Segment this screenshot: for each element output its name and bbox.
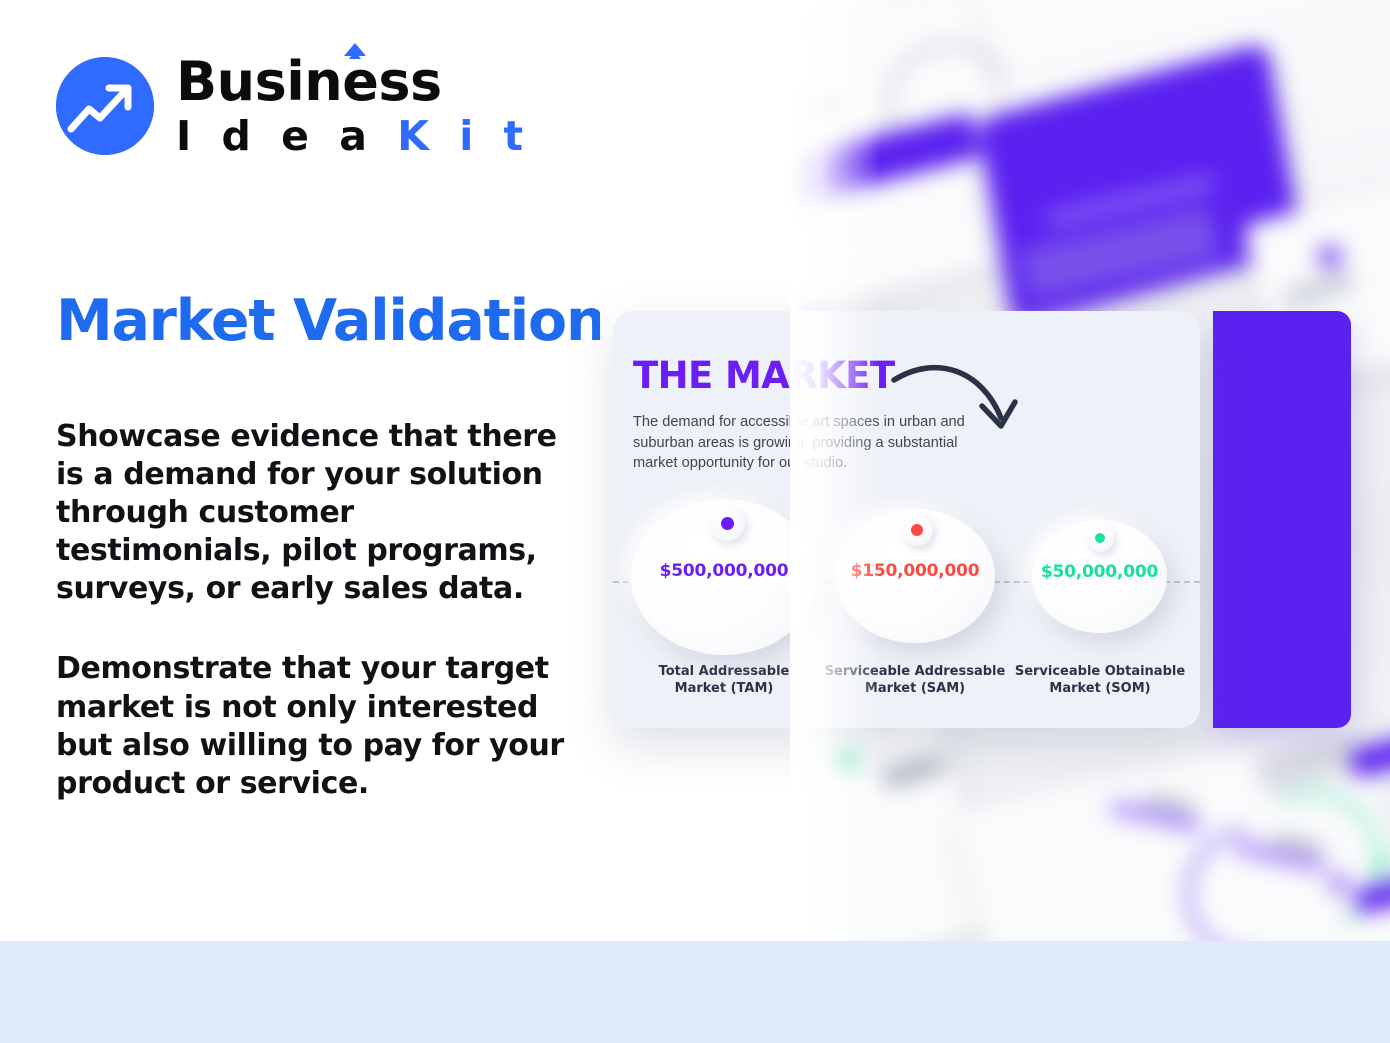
curved-arrow-down-right-icon (890, 356, 1025, 451)
growth-chart-circle-icon (56, 57, 154, 155)
chevron-up-accent-icon (344, 43, 366, 56)
body-paragraph-1: Showcase evidence that there is a demand… (56, 418, 566, 608)
mock-dot-green-2 (1375, 858, 1389, 872)
left-content-panel: Business I d e a K i t Market Validation… (0, 0, 600, 941)
mock-dot-green-1 (834, 748, 856, 770)
mock-bar-gray-1 (790, 98, 836, 131)
brand-name-line2-dark: I d e a (176, 112, 375, 160)
market-label-som-line1: Serviceable Obtainable (985, 664, 1200, 681)
footer-band (0, 941, 1390, 1043)
marker-dot-tam (721, 517, 734, 530)
slide-stage: Business I d e a K i t Market Validation… (0, 0, 1390, 1043)
bubble-nub-sam (901, 514, 933, 546)
market-card-side-panel (1213, 311, 1351, 728)
market-bubble-som[interactable]: $50,000,000 (1032, 520, 1167, 633)
bubble-nub-tam (709, 505, 745, 541)
market-size-chart: $500,000,000 Total Addressable Market (T… (613, 499, 1200, 699)
market-value-som: $50,000,000 (1032, 562, 1167, 582)
marker-dot-sam (911, 524, 923, 536)
body-paragraph-2: Demonstrate that your target market is n… (56, 650, 566, 802)
market-label-som: Serviceable Obtainable Market (SOM) (985, 664, 1200, 697)
marker-dot-som (1095, 533, 1105, 543)
mock-bar-purple-2 (790, 304, 828, 379)
brand-logo[interactable]: Business I d e a K i t (56, 55, 531, 157)
brand-name-line1: Business (176, 55, 531, 109)
brand-name-line2-accent: K i t (397, 112, 531, 160)
body-copy: Showcase evidence that there is a demand… (56, 418, 566, 803)
market-label-som-line2: Market (SOM) (985, 681, 1200, 698)
brand-wordmark: Business I d e a K i t (176, 55, 531, 157)
page-title: Market Validation (56, 292, 605, 352)
brand-name-line2: I d e a K i t (176, 116, 531, 157)
mock-dot-purple-1 (1318, 245, 1342, 269)
market-card: THE MARKET The demand for accessible art… (613, 311, 1200, 728)
brand-name-line1-text: Business (176, 50, 442, 113)
bubble-nub-som (1086, 524, 1114, 552)
mock-dot-purple-2 (1330, 875, 1348, 893)
